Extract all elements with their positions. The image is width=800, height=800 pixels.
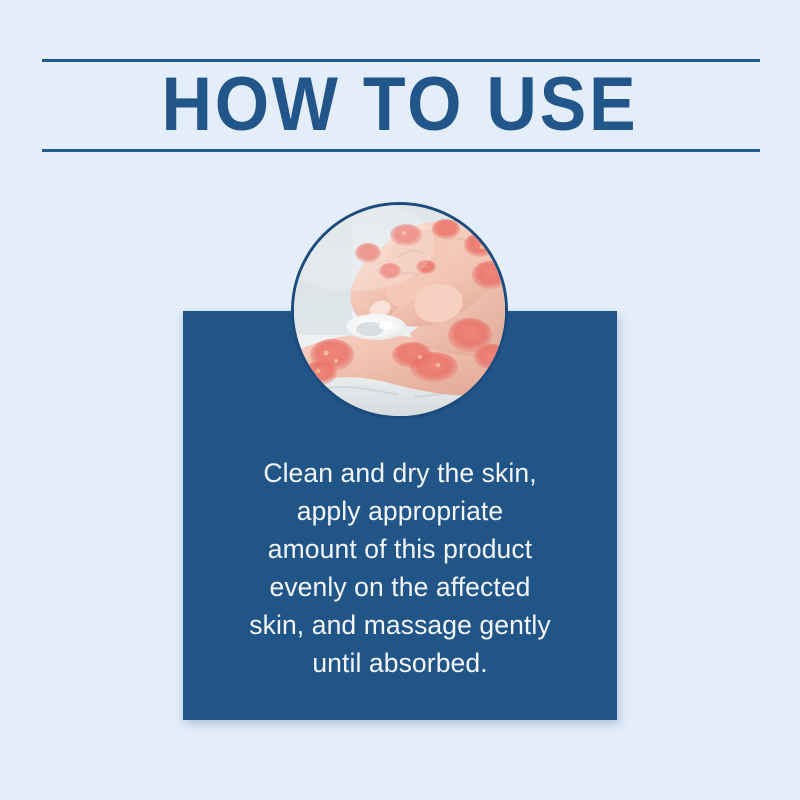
title-divider-bottom [42,149,760,152]
instruction-line: apply appropriate [207,492,593,530]
skin-treatment-illustration [294,205,505,416]
instruction-text: Clean and dry the skin, apply appropriat… [183,454,617,682]
page-title: HOW TO USE [32,62,768,148]
instruction-line: skin, and massage gently [207,606,593,644]
instruction-line: evenly on the affected [207,568,593,606]
skin-treatment-photo [291,202,508,419]
instruction-line: until absorbed. [207,644,593,682]
instruction-line: Clean and dry the skin, [207,454,593,492]
instruction-line: amount of this product [207,530,593,568]
how-to-use-poster: HOW TO USE Clean and dry the skin, apply… [0,0,800,800]
